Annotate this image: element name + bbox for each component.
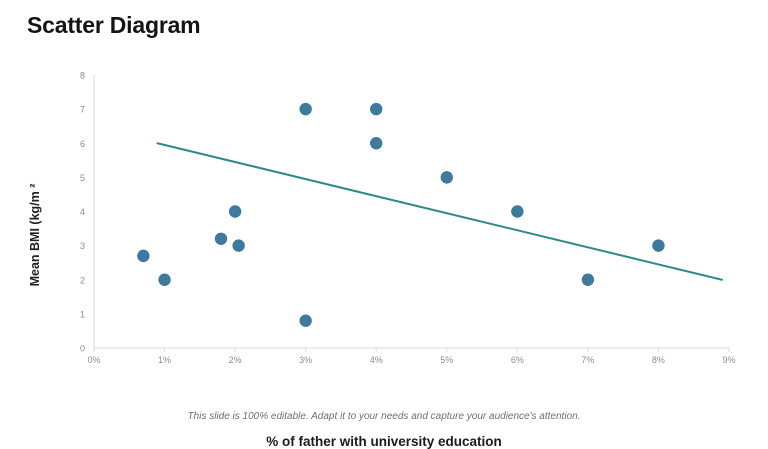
x-tick-label: 9% bbox=[722, 355, 735, 365]
y-tick-label: 1 bbox=[80, 309, 85, 319]
y-tick-label: 8 bbox=[80, 71, 85, 81]
y-tick-label: 0 bbox=[80, 344, 85, 354]
scatter-chart: 012345678 0%1%2%3%4%5%6%7%8%9% Mean BMI … bbox=[0, 60, 768, 380]
x-tick-label: 0% bbox=[87, 355, 100, 365]
scatter-point[interactable] bbox=[441, 171, 453, 183]
scatter-point[interactable] bbox=[299, 315, 311, 327]
scatter-point[interactable] bbox=[229, 205, 241, 217]
trend-line bbox=[158, 143, 722, 280]
scatter-points bbox=[137, 103, 664, 327]
y-axis-title: Mean BMI (kg/m ² bbox=[28, 150, 42, 320]
scatter-point[interactable] bbox=[158, 274, 170, 286]
x-axis-ticks bbox=[94, 348, 729, 352]
y-tick-label: 4 bbox=[80, 207, 85, 217]
x-tick-label: 6% bbox=[511, 355, 524, 365]
scatter-point[interactable] bbox=[511, 205, 523, 217]
x-tick-label: 3% bbox=[299, 355, 312, 365]
x-tick-label: 4% bbox=[370, 355, 383, 365]
x-axis-title: % of father with university education bbox=[0, 434, 768, 449]
x-tick-label: 7% bbox=[581, 355, 594, 365]
y-tick-label: 3 bbox=[80, 241, 85, 251]
y-tick-label: 6 bbox=[80, 139, 85, 149]
x-tick-label: 5% bbox=[440, 355, 453, 365]
x-tick-label: 1% bbox=[158, 355, 171, 365]
y-tick-label: 5 bbox=[80, 173, 85, 183]
scatter-point[interactable] bbox=[652, 239, 664, 251]
scatter-point[interactable] bbox=[215, 233, 227, 245]
y-tick-label: 2 bbox=[80, 275, 85, 285]
scatter-point[interactable] bbox=[370, 137, 382, 149]
scatter-point[interactable] bbox=[299, 103, 311, 115]
x-axis-tick-labels: 0%1%2%3%4%5%6%7%8%9% bbox=[87, 355, 735, 365]
x-tick-label: 2% bbox=[229, 355, 242, 365]
y-axis-tick-labels: 012345678 bbox=[80, 71, 85, 354]
scatter-point[interactable] bbox=[137, 250, 149, 262]
scatter-point[interactable] bbox=[232, 239, 244, 251]
scatter-point[interactable] bbox=[582, 274, 594, 286]
footer-note: This slide is 100% editable. Adapt it to… bbox=[0, 411, 768, 422]
plot-svg: 012345678 0%1%2%3%4%5%6%7%8%9% bbox=[0, 60, 768, 380]
page-title: Scatter Diagram bbox=[27, 12, 200, 39]
x-tick-label: 8% bbox=[652, 355, 665, 365]
scatter-point[interactable] bbox=[370, 103, 382, 115]
y-tick-label: 7 bbox=[80, 105, 85, 115]
